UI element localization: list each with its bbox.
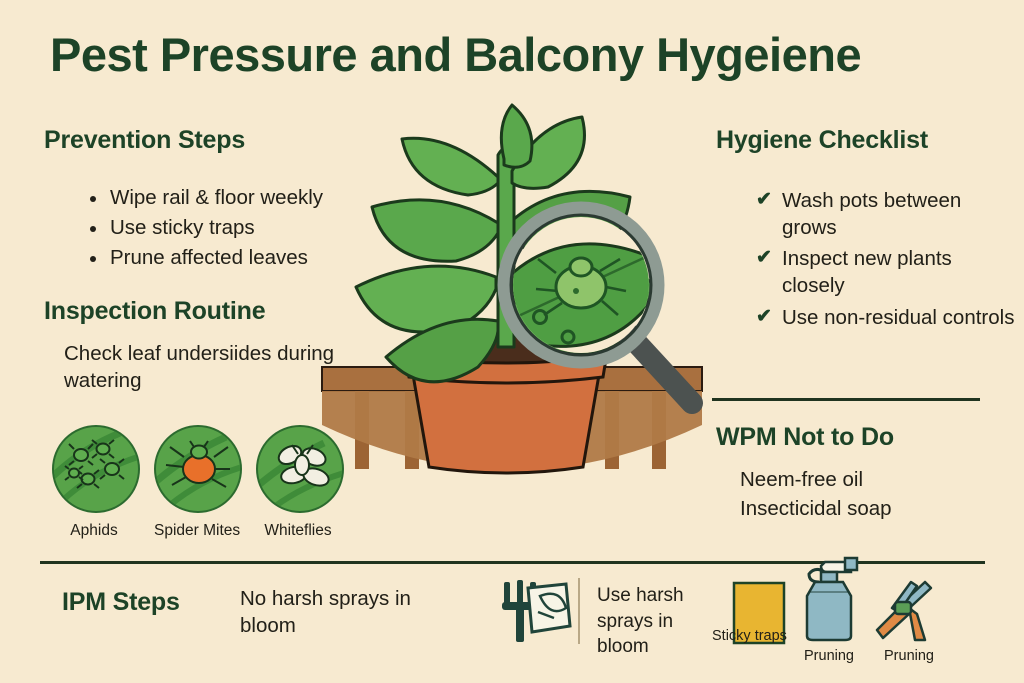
infographic-canvas: Pest Pressure and Balcony Hygeiene [0,0,1024,683]
pruning-shears-label: Pruning [884,648,934,664]
list-item: Insecticidal soap [740,494,990,523]
prevention-steps-heading: Prevention Steps [44,126,245,155]
pest-item-aphids: Aphids [52,425,136,540]
list-item-label: Use non-residual controls [782,306,1014,329]
pest-item-whiteflies: Whiteflies [256,425,340,540]
ipm-steps-text: No harsh sprays in bloom [240,585,435,640]
list-item-label: Inspect new plants closely [782,247,952,297]
right-divider [712,398,980,401]
pest-label: Whiteflies [256,522,340,540]
footer-vertical-separator [578,578,580,644]
pruning-shears-icon [875,578,945,644]
not-to-do-heading: WPM Not to Do [716,423,894,452]
hygiene-checklist-heading: Hygiene Checklist [716,126,928,155]
check-icon: ✔ [756,305,772,330]
hygiene-checklist-list: ✔ Wash pots between grows ✔ Inspect new … [716,188,1018,336]
list-item: Neem-free oil [740,465,990,494]
ipm-steps-heading: IPM Steps [62,588,180,617]
prevention-steps-list: Wipe rail & floor weekly Use sticky trap… [48,186,388,276]
inspection-routine-heading: Inspection Routine [44,297,265,326]
spray-bottle-icon [795,556,865,646]
sticky-trap-label: Sticky traps [712,628,787,644]
list-item: ✔ Inspect new plants closely [756,246,1018,299]
list-item: ✔ Wash pots between grows [756,188,1018,241]
list-item-label: Wash pots between grows [782,189,961,239]
list-item: ✔ Use non-residual controls [756,305,1018,332]
spider-mite-icon [154,425,242,513]
pest-item-spider-mites: Spider Mites [154,425,238,540]
pest-label: Spider Mites [154,522,238,540]
aphids-icon [52,425,140,513]
check-icon: ✔ [756,188,772,213]
list-item: Use sticky traps [88,216,388,240]
potted-plant-illustration [300,95,720,525]
hand-fork-and-leaf-note-icon [498,578,574,644]
spray-bottle-label: Pruning [804,648,854,664]
list-item: Wipe rail & floor weekly [88,186,388,210]
not-to-do-list: Neem-free oil Insecticidal soap [740,465,990,523]
use-harsh-sprays-text: Use harsh sprays in bloom [597,583,693,660]
pest-label: Aphids [52,522,136,540]
check-icon: ✔ [756,246,772,271]
page-title: Pest Pressure and Balcony Hygeiene [50,30,980,79]
pest-gallery: Aphids Spider Mites [52,425,340,540]
whitefly-icon [256,425,344,513]
list-item: Prune affected leaves [88,246,388,270]
inspection-routine-text: Check leaf undersiides during watering [64,340,344,395]
